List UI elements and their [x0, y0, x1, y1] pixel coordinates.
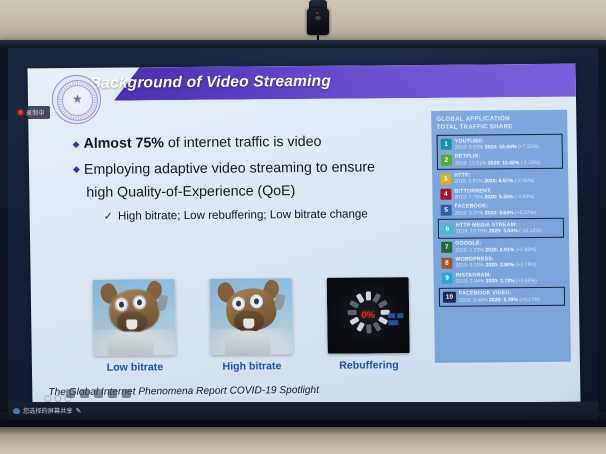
panel-row: 6HTTP MEDIA STREAM:2019: 13.70% 2020: 3.…: [440, 220, 562, 237]
slide-bullets: ◆ Almost 75% of internet traffic is vide…: [73, 133, 446, 225]
app-stats: 2019: 7.79% 2020: 5.33% (-3.83%): [454, 194, 560, 201]
rank-badge: 3: [440, 173, 451, 184]
panel-title-line-2: TOTAL TRAFFIC SHARE: [436, 122, 562, 131]
row-info: GOOGLE:2019: 1.23% 2020: 2.91% (+1.68%): [455, 240, 561, 254]
scrat-image-low: [93, 279, 176, 356]
rank-badge: 7: [441, 242, 452, 253]
row-info: YOUTUBE:2019: 8.63% 2020: 15.94% (+7.31%…: [455, 137, 559, 151]
annotate-pen-icon[interactable]: ✎: [76, 407, 82, 415]
sub-bullet-text: High bitrate; Low rebuffering; Low bitra…: [118, 206, 368, 224]
sub-bullet-item: ✓ High bitrate; Low rebuffering; Low bit…: [104, 205, 446, 224]
diamond-bullet-icon: ◆: [73, 136, 80, 153]
thumbnail-low-bitrate: [93, 279, 176, 356]
spinner-segment: [356, 322, 365, 332]
panel-highlight-group: 10FACEBOOK VIDEO:2019: 2.40% 2020: 2.79%…: [439, 286, 565, 307]
university-seal-icon: ★: [52, 75, 102, 124]
panel-row: 4BITTORRENT:2019: 7.79% 2020: 5.33% (-3.…: [438, 186, 562, 203]
recording-indicator: 录制中: [14, 106, 50, 119]
spinner-segment: [349, 316, 359, 325]
rank-badge: 4: [440, 189, 451, 200]
buffering-percent: 0%: [361, 310, 375, 321]
panel-row: 3HTTP:2019: 3.81% 2020: 6.57% (-2.96%): [438, 170, 562, 187]
row-info: HTTP:2019: 3.81% 2020: 6.57% (-2.96%): [454, 172, 560, 186]
taskbar: 您选择的屏幕共享 ✎: [8, 402, 598, 420]
row-info: INSTAGRAM:2019: 2.04% 2020: 2.72% (+0.69…: [456, 271, 562, 285]
rank-badge: 1: [441, 139, 452, 150]
thumbnail-rebuffering: 0%: [327, 277, 410, 354]
diamond-bullet-icon: ◆: [73, 160, 80, 177]
rank-badge: 8: [441, 257, 452, 268]
bullet-1-strong: Almost 75%: [83, 135, 164, 152]
caption-low-bitrate: Low bitrate: [94, 361, 176, 374]
panel-highlight-group: 6HTTP MEDIA STREAM:2019: 13.70% 2020: 3.…: [438, 218, 564, 239]
wall-background-top: [0, 0, 606, 41]
photo-scene: 录制中 Background of Video Streaming ★: [0, 0, 606, 454]
bullet-2-line-2: high Quality-of-Experience (QoE): [86, 182, 445, 203]
image-cell-low-bitrate: Low bitrate: [93, 279, 176, 374]
bullet-2-text: Employing adaptive video streaming to en…: [84, 158, 375, 179]
image-cell-rebuffering: 0% Rebuffering: [327, 277, 410, 372]
slide-title: Background of Video Streaming: [90, 73, 331, 93]
wall-background-bottom: [0, 427, 606, 454]
app-stats: 2019: 12.61% 2020: 11.42% (-1.19%): [455, 159, 559, 166]
player-logo-icon: [388, 313, 404, 326]
share-icon: [13, 408, 20, 414]
dock-icon-4[interactable]: [108, 389, 117, 398]
panel-row: 7GOOGLE:2019: 1.23% 2020: 2.91% (+1.68%): [439, 239, 563, 256]
dock-icon-5[interactable]: [122, 389, 131, 398]
desktop-dock[interactable]: [66, 389, 131, 398]
bullet-1-rest: of internet traffic is video: [164, 134, 322, 151]
row-info: FACEBOOK VIDEO:2019: 2.40% 2020: 2.79% (…: [459, 290, 561, 303]
presentation-slide: Background of Video Streaming ★ ◆ Almost…: [27, 64, 580, 407]
record-dot-icon: [18, 110, 23, 115]
app-stats: 2019: 2.40% 2020: 2.79% (+0.17%): [459, 296, 561, 303]
app-stats: 2019: 3.37% 2020: 3.68% (+0.37%): [455, 209, 561, 216]
spinner-segment: [372, 321, 381, 331]
webcam-led: [316, 12, 319, 14]
spinner-segment: [377, 316, 387, 325]
panel-title: GLOBAL APPLICATION TOTAL TRAFFIC SHARE: [436, 115, 562, 131]
row-info: BITTORRENT:2019: 7.79% 2020: 5.33% (-3.8…: [454, 187, 560, 201]
example-images-row: Low bitrate: [93, 277, 410, 374]
image-shading: [93, 279, 176, 356]
rank-badge: 10: [443, 292, 456, 303]
panel-row: 8WORDPRESS:2019: 0.10% 2020: 2.80% (+2.7…: [439, 254, 563, 271]
recording-label: 录制中: [26, 108, 45, 117]
panel-row: 5FACEBOOK:2019: 3.37% 2020: 3.68% (+0.37…: [439, 201, 563, 218]
screen-share-label: 您选择的屏幕共享: [23, 406, 73, 415]
panel-group: 3HTTP:2019: 3.81% 2020: 6.57% (-2.96%)4B…: [437, 169, 564, 219]
rank-badge: 9: [442, 273, 453, 284]
image-shading: [210, 278, 293, 355]
panel-group: 7GOOGLE:2019: 1.23% 2020: 2.91% (+1.68%)…: [438, 238, 565, 288]
check-icon: ✓: [104, 208, 113, 224]
spinner-segment: [347, 310, 356, 315]
rebuffering-image: 0%: [327, 277, 410, 354]
app-stats: 2019: 0.10% 2020: 2.80% (+2.78%): [455, 262, 561, 269]
bullet-2-line-1: Employing adaptive video streaming to en…: [84, 159, 375, 178]
spinner-segment: [366, 324, 371, 333]
image-cell-high-bitrate: High bitrate: [210, 278, 293, 373]
spinner-segment: [365, 291, 370, 300]
dock-icon-1[interactable]: [66, 389, 75, 398]
row-info: FACEBOOK:2019: 3.37% 2020: 3.68% (+0.37%…: [455, 203, 561, 217]
bullet-item-1: ◆ Almost 75% of internet traffic is vide…: [73, 133, 445, 154]
bezel-sheen: [0, 40, 606, 48]
screen-share-status[interactable]: 您选择的屏幕共享 ✎: [13, 406, 81, 415]
rank-badge: 6: [442, 223, 453, 234]
row-info: WORDPRESS:2019: 0.10% 2020: 2.80% (+2.78…: [455, 256, 561, 270]
panel-row: 9INSTAGRAM:2019: 2.04% 2020: 2.72% (+0.6…: [440, 270, 564, 287]
webcam-lens: [315, 16, 321, 20]
app-stats: 2019: 3.81% 2020: 6.57% (-2.96%): [454, 178, 560, 185]
panel-row: 1YOUTUBE:2019: 8.63% 2020: 15.94% (+7.31…: [439, 136, 561, 153]
spinner-segment: [372, 293, 381, 303]
dock-icon-2[interactable]: [80, 389, 89, 398]
scrat-image-high: [210, 278, 293, 355]
panel-row: 2NETFLIX:2019: 12.61% 2020: 11.42% (-1.1…: [439, 152, 561, 169]
monitor-bezel: 录制中 Background of Video Streaming ★: [0, 40, 606, 429]
traffic-share-panel: GLOBAL APPLICATION TOTAL TRAFFIC SHARE 1…: [431, 110, 571, 363]
caption-rebuffering: Rebuffering: [328, 359, 410, 372]
bullet-item-2: ◆ Employing adaptive video streaming to …: [73, 157, 445, 179]
app-stats: 2019: 13.70% 2020: 3.54% (-10.12%): [456, 228, 560, 235]
app-stats: 2019: 1.23% 2020: 2.91% (+1.68%): [455, 247, 561, 254]
rank-badge: 2: [441, 155, 452, 166]
caption-high-bitrate: High bitrate: [211, 360, 293, 373]
thumbnail-high-bitrate: [210, 278, 293, 355]
panel-rows-container: 1YOUTUBE:2019: 8.63% 2020: 15.94% (+7.31…: [437, 134, 566, 307]
bullet-1-text: Almost 75% of internet traffic is video: [83, 134, 321, 154]
app-stats: 2019: 2.04% 2020: 2.72% (+0.69%): [456, 278, 562, 285]
row-info: NETFLIX:2019: 12.61% 2020: 11.42% (-1.19…: [455, 153, 559, 167]
presentation-slide-wrapper: Background of Video Streaming ★ ◆ Almost…: [27, 64, 580, 407]
row-info: HTTP MEDIA STREAM:2019: 13.70% 2020: 3.5…: [456, 222, 560, 236]
monitor-screen: 录制中 Background of Video Streaming ★: [8, 48, 598, 420]
seal-star-icon: ★: [71, 93, 84, 106]
rank-badge: 5: [441, 205, 452, 216]
panel-row: 10FACEBOOK VIDEO:2019: 2.40% 2020: 2.79%…: [441, 288, 563, 305]
spinner-segment: [377, 300, 387, 309]
panel-highlight-group: 1YOUTUBE:2019: 8.63% 2020: 15.94% (+7.31…: [437, 134, 564, 170]
app-stats: 2019: 8.63% 2020: 15.94% (+7.31%): [455, 144, 559, 151]
webcam-icon: [305, 0, 331, 41]
spinner-segment: [349, 300, 359, 309]
dock-icon-3[interactable]: [94, 389, 103, 398]
